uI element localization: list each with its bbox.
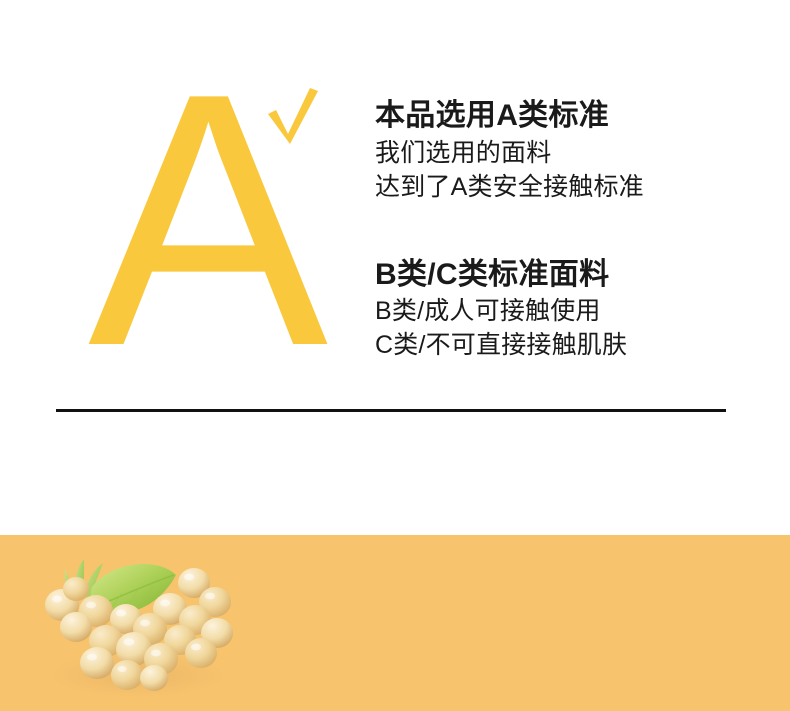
section-divider [56,409,726,412]
class-bc-heading: B类/C类标准面料 [375,256,735,294]
letter-a-glyph: A [88,78,288,363]
standards-section: A 本品选用A类标准 我们选用的面料 达到了A类安全接触标准 B类/C类标准面料… [0,0,790,535]
class-b-line: B类/成人可接触使用 [375,294,735,328]
soy-band: 源自大豆 的温柔呵护 (SUPER SOFT). [0,535,790,711]
class-c-line: C类/不可直接接触肌肤 [375,328,735,362]
class-a-line-1: 我们选用的面料 [375,136,735,170]
class-bc-block: B类/C类标准面料 B类/成人可接触使用 C类/不可直接接触肌肤 [375,256,735,362]
class-a-block: 本品选用A类标准 我们选用的面料 达到了A类安全接触标准 [375,96,735,204]
class-a-heading: 本品选用A类标准 [375,96,735,136]
class-a-badge: A [88,78,328,363]
class-a-line-2: 达到了A类安全接触标准 [375,170,735,204]
check-mark-icon [266,86,320,146]
standards-text-column: 本品选用A类标准 我们选用的面料 达到了A类安全接触标准 B类/C类标准面料 B… [375,96,735,362]
soybean-cluster-image [34,547,244,702]
